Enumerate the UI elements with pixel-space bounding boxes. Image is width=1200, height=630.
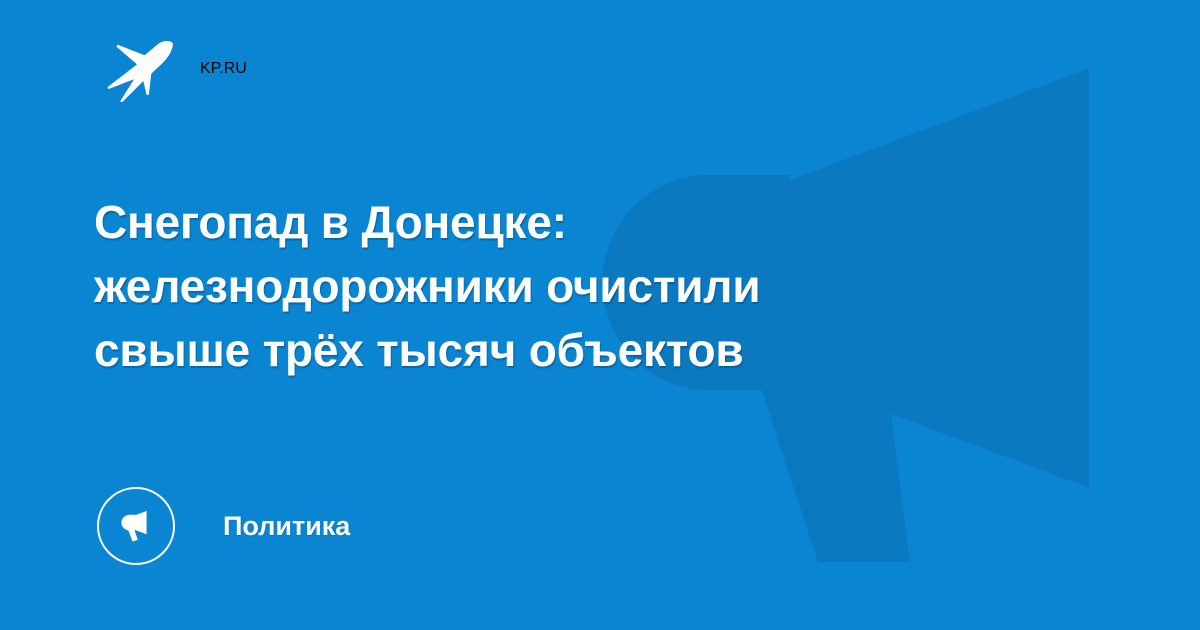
swallow-bird-icon xyxy=(104,36,178,102)
social-share-card: KP.RU Снегопад в Донецке: железнодорожни… xyxy=(0,0,1200,630)
category-icon-circle xyxy=(97,487,175,565)
category-label: Политика xyxy=(223,513,350,540)
headline-line-1: Снегопад в Донецке: xyxy=(94,190,994,254)
headline-line-2: железнодорожники очистили xyxy=(94,254,994,318)
headline: Снегопад в Донецке: железнодорожники очи… xyxy=(94,190,994,382)
site-header: KP.RU xyxy=(104,36,247,102)
megaphone-icon xyxy=(113,503,159,549)
brand-logo-text: KP.RU xyxy=(200,60,247,78)
category-badge[interactable]: Политика xyxy=(97,487,350,565)
headline-line-3: свыше трёх тысяч объектов xyxy=(94,318,994,382)
